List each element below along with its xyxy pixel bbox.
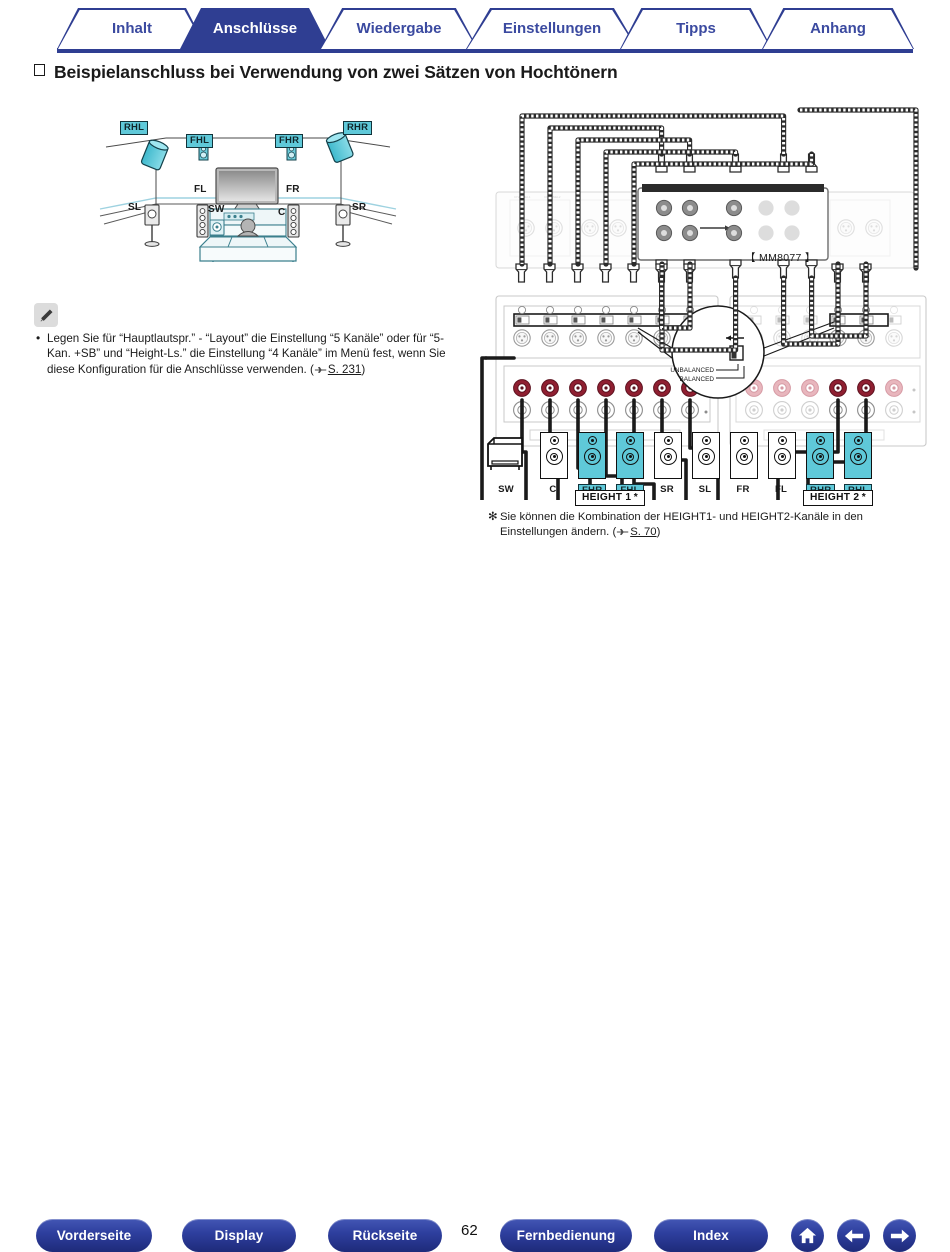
speaker-fl: FL bbox=[768, 432, 796, 496]
woofer-icon bbox=[546, 448, 563, 465]
pencil-glyph bbox=[39, 308, 54, 323]
speaker-caption-sr: SR bbox=[654, 484, 680, 496]
speaker-legend-row: SW C FHR FHL SR bbox=[484, 432, 864, 502]
footer-button-display[interactable]: Display bbox=[182, 1219, 296, 1252]
footnote-text: Sie können die Kombination der HEIGHT1- … bbox=[500, 511, 863, 538]
footer-button-rueckseite[interactable]: Rückseite bbox=[328, 1219, 442, 1252]
room-label-rhr: RHR bbox=[343, 121, 372, 135]
note-ref-close: ) bbox=[361, 363, 365, 376]
tab-anschluesse[interactable]: Anschlüsse bbox=[180, 8, 330, 49]
speaker-fr: FR bbox=[730, 432, 758, 496]
woofer-icon bbox=[698, 448, 715, 465]
speaker-rhr: RHR bbox=[806, 432, 835, 499]
speaker-body-fr bbox=[730, 432, 758, 479]
woofer-icon bbox=[812, 448, 829, 465]
woofer-icon bbox=[774, 448, 791, 465]
tab-wiedergabe[interactable]: Wiedergabe bbox=[320, 8, 478, 49]
page-number: 62 bbox=[461, 1222, 478, 1239]
room-label-rhl: RHL bbox=[120, 121, 148, 135]
subwoofer-icon bbox=[484, 434, 528, 474]
room-label-sl: SL bbox=[128, 202, 141, 213]
footnote-ref[interactable]: (S. 70) bbox=[612, 526, 660, 538]
woofer-icon bbox=[584, 448, 601, 465]
tab-einstellungen[interactable]: Einstellungen bbox=[466, 8, 638, 49]
pencil-icon bbox=[34, 303, 58, 327]
speaker-c: C bbox=[540, 432, 568, 496]
speaker-rhl: RHL bbox=[844, 432, 872, 499]
speaker-fhl: FHL bbox=[616, 432, 644, 499]
footer-button-index[interactable]: Index bbox=[654, 1219, 768, 1252]
arrow-right-icon[interactable] bbox=[883, 1219, 916, 1252]
footnote-text-wrap: Sie können die Kombination der HEIGHT1- … bbox=[500, 510, 892, 540]
room-layout-diagram: RHL FHL FHR RHR SL FL SW C FR SR bbox=[98, 112, 398, 262]
callout-balanced-text: BALANCED bbox=[680, 376, 715, 383]
footer-button-vorderseite[interactable]: Vorderseite bbox=[36, 1219, 152, 1252]
speaker-sr: SR bbox=[654, 432, 682, 496]
speaker-body-fhl bbox=[616, 432, 644, 479]
section-marker-icon bbox=[34, 64, 45, 76]
speaker-body-rhr bbox=[806, 432, 834, 479]
woofer-icon bbox=[660, 448, 677, 465]
speaker-fhr: FHR bbox=[578, 432, 606, 499]
speaker-body-sr bbox=[654, 432, 682, 479]
footnote-marker: ✻ bbox=[488, 510, 497, 525]
woofer-icon bbox=[622, 448, 639, 465]
room-label-fhr: FHR bbox=[275, 134, 303, 148]
speaker-caption-sw: SW bbox=[484, 484, 528, 496]
tweeter-icon bbox=[854, 436, 863, 445]
page-title-text: Beispielanschluss bei Verwendung von zwe… bbox=[54, 62, 618, 82]
speaker-caption-fl: FL bbox=[768, 484, 794, 496]
room-label-fr: FR bbox=[286, 184, 300, 195]
top-tab-bar: Inhalt Anschlüsse Wiedergabe Einstellung… bbox=[0, 0, 950, 56]
tweeter-icon bbox=[740, 436, 749, 445]
speaker-body-fhr bbox=[578, 432, 606, 479]
speaker-body-fl bbox=[768, 432, 796, 479]
footnote-ref-link[interactable]: S. 70 bbox=[630, 526, 656, 538]
note-ref-link[interactable]: S. 231 bbox=[328, 363, 362, 376]
note-ref[interactable]: (S. 231) bbox=[310, 363, 365, 376]
speaker-body-sl bbox=[692, 432, 720, 479]
speaker-body-c bbox=[540, 432, 568, 479]
tweeter-icon bbox=[626, 436, 635, 445]
tweeter-icon bbox=[816, 436, 825, 445]
note-block: • Legen Sie für “Hauptlautspr.” - “Layou… bbox=[36, 331, 462, 377]
group-height-1: HEIGHT 1 * bbox=[575, 490, 645, 506]
room-label-fhl: FHL bbox=[186, 134, 213, 148]
speaker-body-rhl bbox=[844, 432, 872, 479]
tweeter-icon bbox=[778, 436, 787, 445]
tab-anhang[interactable]: Anhang bbox=[762, 8, 914, 49]
tweeter-icon bbox=[664, 436, 673, 445]
room-label-c: C bbox=[278, 207, 285, 218]
arrow-right-glyph bbox=[890, 1228, 910, 1244]
arrow-left-icon[interactable] bbox=[837, 1219, 870, 1252]
woofer-icon bbox=[850, 448, 867, 465]
callout-unbalanced-text: UNBALANCED bbox=[670, 367, 714, 374]
footer-bar: Vorderseite Display Rückseite 62 Fernbed… bbox=[0, 600, 950, 665]
home-glyph bbox=[798, 1226, 817, 1245]
tab-tipps[interactable]: Tipps bbox=[620, 8, 772, 49]
home-icon[interactable] bbox=[791, 1219, 824, 1252]
woofer-icon bbox=[736, 448, 753, 465]
tweeter-icon bbox=[588, 436, 597, 445]
speaker-sl: SL bbox=[692, 432, 720, 496]
tweeter-icon bbox=[702, 436, 711, 445]
footnote-ref-close: ) bbox=[657, 526, 661, 538]
mm8077-label: 【 MM8077 】 bbox=[745, 250, 816, 265]
speaker-sw: SW bbox=[484, 434, 528, 496]
group-height-2: HEIGHT 2 * bbox=[803, 490, 873, 506]
speaker-caption-sl: SL bbox=[692, 484, 718, 496]
note-text: Legen Sie für “Hauptlautspr.” - “Layout”… bbox=[47, 332, 446, 376]
arrow-left-glyph bbox=[844, 1228, 864, 1244]
page-title: Beispielanschluss bei Verwendung von zwe… bbox=[34, 62, 618, 83]
room-label-sw: SW bbox=[208, 204, 225, 215]
speaker-caption-fr: FR bbox=[730, 484, 756, 496]
note-text-wrap: Legen Sie für “Hauptlautspr.” - “Layout”… bbox=[47, 331, 462, 377]
speaker-caption-c: C bbox=[540, 484, 566, 496]
pointing-hand-icon bbox=[616, 526, 630, 536]
note-bullet: • bbox=[36, 331, 40, 346]
footnote-block: ✻ Sie können die Kombination der HEIGHT1… bbox=[488, 510, 892, 540]
room-label-fl: FL bbox=[194, 184, 207, 195]
footer-button-fernbedienung[interactable]: Fernbedienung bbox=[500, 1219, 632, 1252]
room-label-sr: SR bbox=[352, 202, 366, 213]
tweeter-icon bbox=[550, 436, 559, 445]
pointing-hand-icon bbox=[314, 364, 328, 374]
